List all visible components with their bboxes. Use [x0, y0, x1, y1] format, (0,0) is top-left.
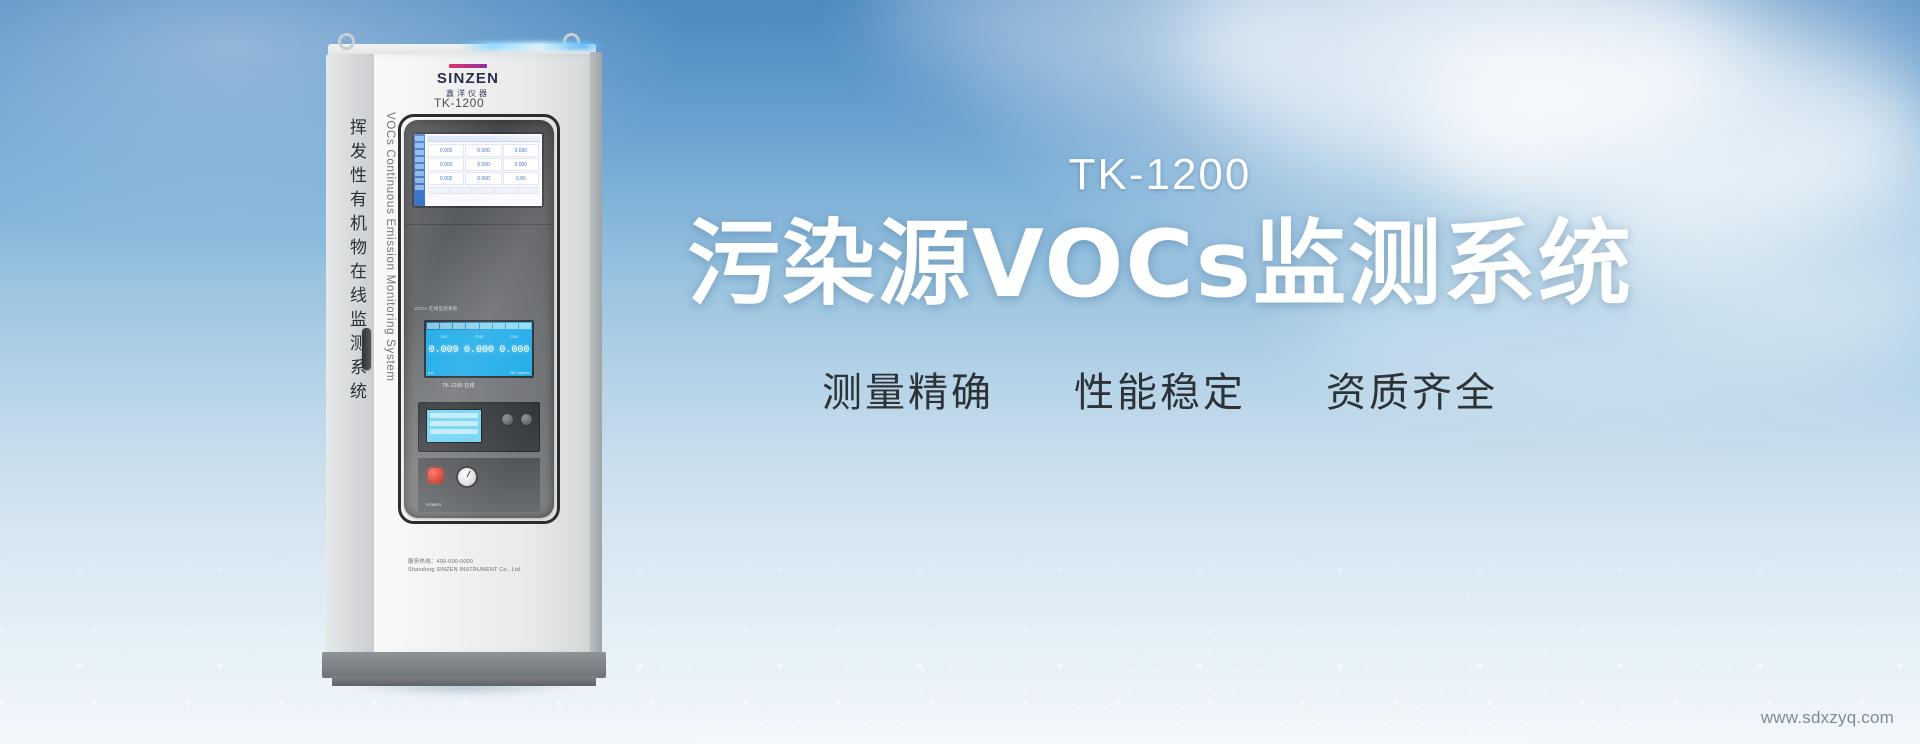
pressure-gauge-icon: [456, 466, 478, 488]
cabinet-right-edge: [590, 52, 602, 656]
lcd-channel-label: CH3: [510, 334, 518, 339]
hmi-value-cell: 0.000: [503, 158, 539, 171]
banner-model-text: TK-1200: [660, 150, 1660, 200]
hmi-value-cell: 0.000: [428, 158, 464, 171]
control-knob: [501, 413, 514, 426]
hmi-sidebar-menu: [414, 134, 425, 206]
hmi-touchscreen: 0.000 0.000 0.000 0.000 0.000 0.000 0.00…: [412, 132, 544, 208]
cabinet-door-handle: [362, 328, 371, 370]
analyzer-lcd-display: CH1 CH2 CH3 0.009 0.000 0.000 run NO sys…: [424, 320, 534, 378]
tech-dot-mesh-decoration: [0, 414, 1920, 744]
banner-feature-item-2: 性能稳定: [1074, 360, 1246, 418]
lcd-channel-label: CH2: [475, 334, 483, 339]
brand-accent-bar: [449, 64, 487, 68]
banner-feature-list: 测量精确 性能稳定 资质齐全: [660, 360, 1660, 418]
cabinet-base-plinth: [332, 676, 596, 686]
bay-label-text: VOCs 在线监测系统: [414, 306, 458, 312]
banner-headline-text: 污染源VOCs监测系统: [660, 216, 1660, 314]
product-cabinet-image: SINZEN 鑫洋仪器 TK-1200 挥发性有机物在线监测系统 VOCs Co…: [318, 28, 608, 688]
hero-banner: SINZEN 鑫洋仪器 TK-1200 挥发性有机物在线监测系统 VOCs Co…: [0, 0, 1920, 744]
cloud-decoration: [880, 0, 1300, 100]
cabinet-footer-plate: 服务热线：400-000-0000 Shandong SINZEN INSTRU…: [408, 558, 578, 575]
hmi-value-cell: 0.000: [503, 144, 539, 157]
lcd-value: 0.000: [499, 345, 529, 356]
hmi-value-cell: 0.000: [465, 172, 501, 185]
banner-feature-item-3: 资质齐全: [1326, 360, 1498, 418]
lcd-channel-values: 0.009 0.000 0.000: [426, 339, 532, 361]
mesh-wave-layer: [0, 414, 1920, 744]
lcd-status-bar: [426, 322, 532, 330]
mesh-glow-dots: [0, 414, 1920, 744]
banner-copy-block: TK-1200 污染源VOCs监测系统 测量精确 性能稳定 资质齐全: [660, 150, 1660, 418]
lower-control-panel: POWER: [418, 458, 540, 512]
hmi-value-cell: 0.000: [428, 144, 464, 157]
cabinet-vertical-english-text: VOCs Continuous Emission Monitoring Syst…: [374, 112, 396, 382]
hmi-footer-buttons: [427, 187, 540, 194]
bay-sub-text: TK-1200 在线: [442, 382, 475, 389]
lcd-channel-labels: CH1 CH2 CH3: [426, 334, 532, 339]
plate-line-1: 服务热线：400-000-0000: [408, 558, 578, 566]
instrument-bay: 0.000 0.000 0.000 0.000 0.000 0.000 0.00…: [404, 120, 554, 518]
lcd-channel-label: CH1: [440, 334, 448, 339]
cabinet-brand-logo: SINZEN 鑫洋仪器: [422, 64, 514, 99]
plate-line-2: Shandong SINZEN INSTRUMENT Co., Ltd.: [408, 566, 578, 574]
lcd-footer: run NO system: [428, 370, 530, 375]
power-tag-text: POWER: [426, 502, 441, 507]
lcd-value: 0.009: [429, 345, 459, 356]
banner-feature-item-1: 测量精确: [822, 360, 994, 418]
mesh-dots-layer-a: [0, 414, 1920, 744]
hmi-value-cell: 0.000: [428, 172, 464, 185]
lcd-footer-right: NO system: [510, 370, 530, 375]
cabinet-vertical-chinese-text: 挥发性有机物在线监测系统: [338, 118, 364, 406]
hmi-screen-content: 0.000 0.000 0.000 0.000 0.000 0.000 0.00…: [425, 134, 542, 206]
emergency-stop-button-icon: [428, 468, 443, 483]
brand-name-text: SINZEN: [422, 70, 514, 87]
hmi-value-cell: 0.000: [465, 158, 501, 171]
site-watermark: www.sdxzyq.com: [1761, 708, 1894, 728]
mesh-dots-layer-c: [0, 414, 1920, 744]
lifting-eyebolt-left-icon: [338, 33, 355, 50]
controller-knobs: [501, 413, 533, 426]
controller-screen: [426, 409, 482, 443]
hmi-value-cell: 0.000: [465, 144, 501, 157]
cabinet-base: [322, 652, 606, 678]
cloud-decoration: [1180, 0, 1740, 170]
hmi-value-cell: 0.00: [503, 172, 539, 185]
lcd-footer-left: run: [428, 370, 434, 375]
control-knob: [520, 413, 533, 426]
controller-module: [418, 402, 540, 452]
cabinet-model-label: TK-1200: [434, 96, 554, 110]
cabinet-led-strip: [458, 42, 606, 50]
hmi-value-grid: 0.000 0.000 0.000 0.000 0.000 0.000 0.00…: [427, 142, 540, 187]
mesh-dots-layer-b: [0, 414, 1920, 744]
lcd-value: 0.000: [464, 345, 494, 356]
